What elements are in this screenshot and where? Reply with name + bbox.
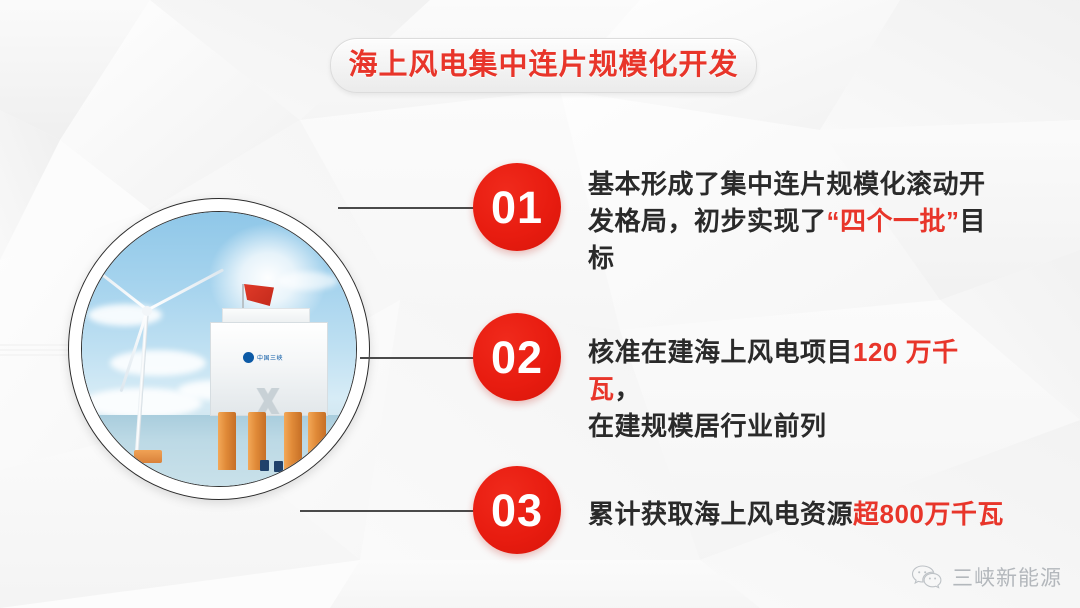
item-number-03: 03 <box>491 488 543 533</box>
item-01-line-1: 基本形成了集中连片规模化滚动开 <box>588 166 1008 203</box>
item-03-line1-prefix: 累计获取海上风电资源 <box>588 499 853 529</box>
item-02-line2-text: 在建规模居行业前列 <box>588 411 827 441</box>
company-logo-icon <box>243 352 254 363</box>
connector-line-02 <box>360 357 485 359</box>
item-01-line-2: 发格局，初步实现了“四个一批”目标 <box>588 203 1008 277</box>
item-01-line2-prefix: 发格局，初步实现了 <box>588 206 827 236</box>
item-badge-01[interactable]: 01 <box>473 163 561 251</box>
item-text-03: 累计获取海上风电资源超800万千瓦 <box>588 496 1018 533</box>
item-text-02: 核准在建海上风电项目120 万千瓦， 在建规模居行业前列 <box>588 334 1008 445</box>
watermark: 三峡新能源 <box>911 562 1062 592</box>
platform-logo-label: 中国三峡 <box>257 353 283 362</box>
platform-leg <box>218 412 236 470</box>
offshore-wind-photo: 中国三峡 <box>81 211 357 487</box>
item-badge-03[interactable]: 03 <box>473 466 561 554</box>
connector-line-03 <box>300 510 490 512</box>
platform-logo: 中国三峡 <box>243 351 295 364</box>
cloud-icon <box>278 272 338 290</box>
item-badge-02[interactable]: 02 <box>473 313 561 401</box>
item-03-line-1: 累计获取海上风电资源超800万千瓦 <box>588 496 1018 533</box>
item-text-01: 基本形成了集中连片规模化滚动开 发格局，初步实现了“四个一批”目标 <box>588 166 1008 277</box>
item-02-line-2: 在建规模居行业前列 <box>588 408 1008 445</box>
platform-leg <box>308 412 326 470</box>
turbine-foundation <box>134 450 162 463</box>
item-03-highlight: 超800万千瓦 <box>853 499 1004 529</box>
platform-truss <box>218 388 318 414</box>
item-02-line-1: 核准在建海上风电项目120 万千瓦， <box>588 334 1008 408</box>
boat-icon <box>260 460 269 471</box>
platform-leg <box>284 412 302 470</box>
item-02-line1-prefix: 核准在建海上风电项目 <box>588 337 853 367</box>
item-number-02: 02 <box>491 335 543 380</box>
slide-canvas: 海上风电集中连片规模化开发 <box>0 0 1080 608</box>
slide-title-pill: 海上风电集中连片规模化开发 <box>330 38 757 93</box>
item-number-01: 01 <box>491 185 543 230</box>
cloud-icon <box>110 350 206 376</box>
turbine-hub <box>142 306 152 316</box>
page-title: 海上风电集中连片规模化开发 <box>348 51 738 80</box>
connector-line-01 <box>338 207 483 209</box>
item-01-highlight: “四个一批” <box>827 206 960 236</box>
item-01-line1-text: 基本形成了集中连片规模化滚动开 <box>588 169 986 199</box>
boat-icon <box>274 461 283 472</box>
watermark-label: 三峡新能源 <box>952 562 1062 592</box>
wechat-icon <box>911 564 943 590</box>
offshore-wind-photo-frame: 中国三峡 <box>68 198 370 500</box>
item-02-line1-suffix: ， <box>615 374 642 404</box>
